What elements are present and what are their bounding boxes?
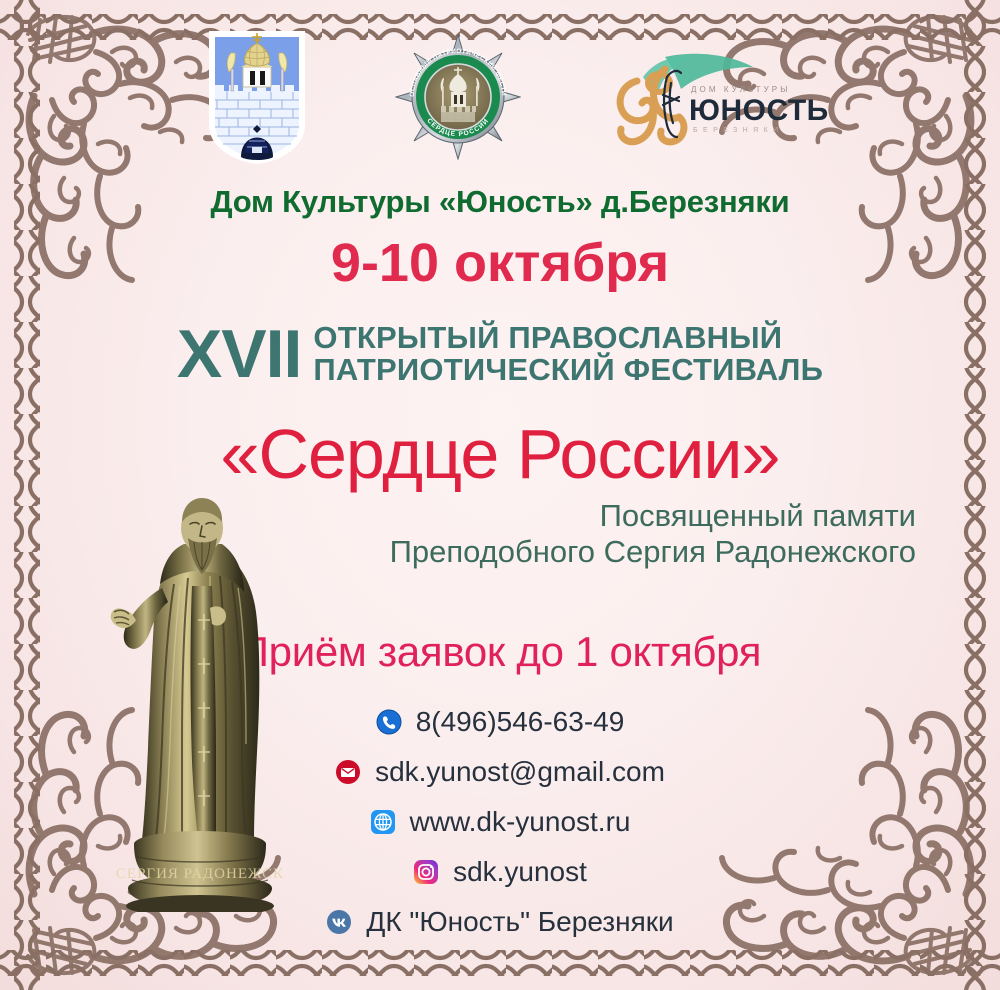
- contact-vk[interactable]: ДК "Юность" Березняки: [326, 906, 673, 938]
- festival-badge: ПРАВОСЛАВНЫЙ ПАТРИОТИЧЕСКИЙ ФЕСТИВАЛЬ СЕ…: [395, 34, 521, 165]
- contacts-list: 8(496)546-63-49 sdk.yunost@gmail.com www…: [0, 706, 1000, 938]
- event-dates: 9-10 октября: [0, 232, 1000, 294]
- website-url: www.dk-yunost.ru: [410, 806, 631, 838]
- yunost-logo: дом культуры ЮНОСТЬ березняки: [607, 47, 795, 151]
- vk-page-name: ДК "Юность" Березняки: [366, 906, 673, 938]
- venue-title: Дом Культуры «Юность» д.Березняки: [0, 184, 1000, 220]
- rope-border-bottom: [0, 950, 1000, 976]
- yunost-main-text: ЮНОСТЬ: [689, 94, 829, 128]
- festival-ordinal: XVII: [177, 323, 302, 386]
- festival-name: «Сердце России»: [0, 414, 1000, 494]
- dedication-line2: Преподобного Сергия Радонежского: [390, 534, 916, 570]
- globe-icon: [370, 809, 396, 835]
- festival-heading: XVII ОТКРЫТЫЙ ПРАВОСЛАВНЫЙ ПАТРИОТИЧЕСКИ…: [0, 322, 1000, 386]
- festival-subtitle-line1: ОТКРЫТЫЙ ПРАВОСЛАВНЫЙ: [313, 322, 823, 354]
- contact-phone[interactable]: 8(496)546-63-49: [376, 706, 625, 738]
- contact-instagram[interactable]: sdk.yunost: [413, 856, 587, 888]
- email-icon: [335, 759, 361, 785]
- dedication-line1: Посвященный памяти: [390, 498, 916, 534]
- contact-email[interactable]: sdk.yunost@gmail.com: [335, 756, 665, 788]
- contact-website[interactable]: www.dk-yunost.ru: [370, 806, 631, 838]
- instagram-handle: sdk.yunost: [453, 856, 587, 888]
- yunost-sub-text: березняки: [693, 127, 784, 134]
- vk-icon: [326, 909, 352, 935]
- poster-canvas: ПРАВОСЛАВНЫЙ ПАТРИОТИЧЕСКИЙ ФЕСТИВАЛЬ СЕ…: [0, 0, 1000, 990]
- sergiev-posad-coat-of-arms: [205, 29, 309, 170]
- dedication-block: Посвященный памяти Преподобного Сергия Р…: [390, 498, 916, 570]
- logo-row: ПРАВОСЛАВНЫЙ ПАТРИОТИЧЕСКИЙ ФЕСТИВАЛЬ СЕ…: [0, 26, 1000, 172]
- email-address: sdk.yunost@gmail.com: [375, 756, 665, 788]
- yunost-top-text: дом культуры: [691, 85, 790, 94]
- phone-icon: [376, 709, 402, 735]
- instagram-icon: [413, 859, 439, 885]
- phone-number: 8(496)546-63-49: [416, 706, 625, 738]
- festival-subtitle-line2: ПАТРИОТИЧЕСКИЙ ФЕСТИВАЛЬ: [313, 354, 823, 386]
